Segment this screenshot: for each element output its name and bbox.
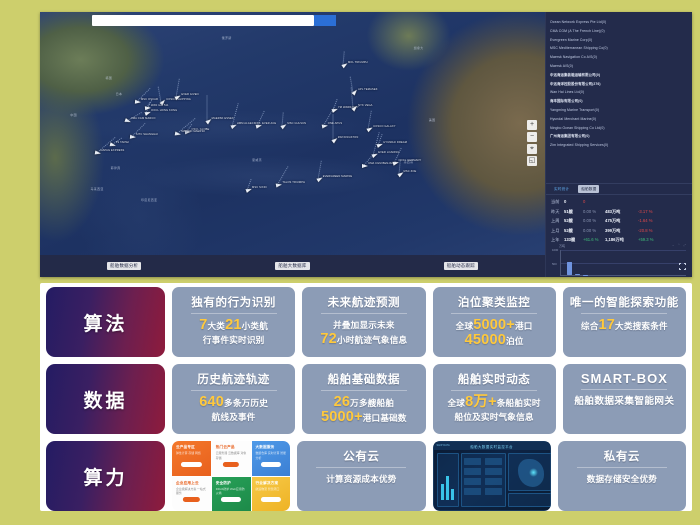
- body-text: 多条万历史: [224, 398, 268, 408]
- feature-card-body: 计算资源成本优势: [326, 473, 396, 487]
- board-row: 算力云产品专区弹性计算 存储 网络热门云产品云服务器 云数据库 对象存储大数据服…: [46, 441, 686, 511]
- map-canvas[interactable]: 中国日本韩国菲律宾印度尼西亚美国加拿大墨西哥马来西亚俄罗斯夏威夷 COSCO S…: [40, 12, 545, 277]
- divider: [577, 467, 667, 468]
- feature-card[interactable]: 独有的行为识别7大类21小类航行事件实时识别: [172, 287, 295, 357]
- chart-y-tick: 500: [552, 262, 557, 266]
- vessel-label: ONE APUS: [328, 122, 342, 125]
- map-geo-label: 夏威夷: [252, 158, 262, 162]
- vessel-label: HAPAG EXPRESS: [101, 149, 125, 152]
- stats-row-ships: 51艘: [564, 209, 583, 215]
- feature-card-title: 私有云: [604, 448, 640, 464]
- body-text: 小类航: [242, 321, 268, 331]
- vessel-label: SITC SHANGHAI: [136, 133, 158, 136]
- feature-card[interactable]: 私有云数据存储安全优势: [558, 441, 686, 511]
- feature-card-body: 全球5000+港口45000泊位: [456, 319, 533, 348]
- company-list[interactable]: Ocean Network Express Pte Ltd(0)CMA CGM …: [546, 16, 692, 184]
- dashboard-bar: [451, 489, 454, 500]
- feature-card[interactable]: 历史航迹轨迹640多条万历史航线及事件: [172, 364, 295, 434]
- highlight-number: 45000: [465, 332, 506, 348]
- map-geo-label: 印度尼西亚: [141, 198, 157, 202]
- company-list-item[interactable]: 广州海运集团有限公司(0): [550, 132, 689, 141]
- mosaic-tile[interactable]: 云产品专区弹性计算 存储 网络: [172, 441, 211, 476]
- mosaic-tile-title: 大数据服务: [256, 445, 275, 450]
- ship-tracking-app-window: 中国日本韩国菲律宾印度尼西亚美国加拿大墨西哥马来西亚俄罗斯夏威夷 COSCO S…: [40, 12, 692, 277]
- divider: [321, 390, 407, 391]
- cloud-products-mosaic[interactable]: 云产品专区弹性计算 存储 网络热门云产品云服务器 云数据库 对象存储大数据服务数…: [172, 441, 290, 511]
- dashboard-tag: SHIP DATA: [437, 444, 450, 447]
- mosaic-tile[interactable]: 安全防护DDoS防护 Web应用防火墙: [212, 477, 251, 512]
- feature-card-line: 行事件实时识别: [199, 334, 268, 348]
- chart-bar: [575, 274, 580, 275]
- feature-card-line: 72小时航迹气象信息: [320, 333, 407, 348]
- body-text: 大类搜索条件: [615, 321, 668, 331]
- feature-card-title: 船舶基础数据: [328, 371, 401, 387]
- map-footer-item[interactable]: 船舶数据分析: [107, 262, 141, 270]
- mosaic-tile[interactable]: 行业解决方案航运物流 智慧港口: [252, 477, 291, 512]
- feature-card-body: 船舶数据采集智能网关: [574, 395, 674, 409]
- company-list-item[interactable]: Zim Integrated Shipping Services(0): [550, 141, 689, 150]
- feature-card-body: 640多条万历史航线及事件: [199, 396, 268, 424]
- tab-ship-data[interactable]: 船舶数据: [578, 185, 599, 193]
- stats-header-label: 当前: [551, 199, 564, 205]
- stats-header-ships: 0: [564, 199, 583, 204]
- dashboard-cell: [464, 468, 481, 475]
- feature-card-body: 综合17大类搜索条件: [581, 319, 668, 334]
- feature-card-body: 7大类21小类航行事件实时识别: [199, 319, 268, 347]
- body-text: 万: [350, 398, 359, 408]
- vessel-label: EVER ACE: [262, 122, 276, 125]
- feature-card-line: 数据存储安全优势: [587, 473, 657, 487]
- stats-row-tonnage: 475万吨: [605, 218, 638, 224]
- map-footer-item[interactable]: 船舶大数据库: [275, 262, 309, 270]
- feature-card-title: 独有的行为识别: [191, 294, 276, 310]
- highlight-number: 7: [199, 317, 207, 333]
- body-text: 小时航迹气象信息: [337, 335, 407, 345]
- dashboard-cell: [464, 488, 481, 495]
- feature-card-line: 计算资源成本优势: [326, 473, 396, 487]
- body-text: 大类: [208, 321, 226, 331]
- feature-card-line: 全球8万+条船舶实时: [448, 396, 541, 411]
- company-list-item[interactable]: 海丰国际有限公司(0): [550, 97, 689, 106]
- vessel-label: MOL TRIUMPH: [348, 61, 368, 64]
- mosaic-tile-button[interactable]: [223, 462, 239, 467]
- chart-y-tick: 1000: [552, 248, 558, 252]
- feature-card-line: 航线及事件: [199, 411, 268, 425]
- vessel-label: WAN HAI 511: [151, 104, 169, 107]
- feature-card-title: 泊位聚类监控: [458, 294, 531, 310]
- body-text: 综合: [581, 321, 599, 331]
- feature-card-title: 未来航迹预测: [328, 294, 401, 310]
- body-text: 泊位: [506, 336, 524, 346]
- feature-card-line: 7大类21小类航: [199, 319, 268, 334]
- divider: [321, 313, 407, 314]
- stats-row-ships-pct: 0.00 %: [583, 209, 605, 214]
- feature-card-line: 5000+港口基础数: [321, 411, 407, 426]
- divider: [451, 390, 537, 391]
- feature-card-line: 45000泊位: [456, 334, 533, 349]
- feature-card[interactable]: 船舶实时动态全球8万+条船舶实时船位及实时气象信息: [433, 364, 556, 434]
- feature-card[interactable]: 未来航迹预测并叠加显示未来72小时航迹气象信息: [302, 287, 425, 357]
- highlight-number: 8万+: [465, 394, 497, 410]
- stats-row: 上周52艘0.00 %475万吨-1.64 %: [551, 218, 688, 228]
- dashboard-bar: [446, 476, 449, 500]
- body-text: 多艘船舶: [359, 398, 394, 408]
- company-list-item[interactable]: Maersk Navigation Co A/S(0): [550, 53, 689, 62]
- divider: [316, 467, 406, 468]
- dashboard-cell: [464, 458, 481, 465]
- vessel-label: OOCL GERMANY: [399, 159, 422, 162]
- statistics-table: 当前 0 0 昨天51艘0.00 %483万吨-3.17 %上周52艘0.00 …: [546, 197, 692, 247]
- company-list-item[interactable]: Ningbo Ocean Shipping Co Ltd(0): [550, 124, 689, 133]
- mosaic-tile-subtitle: 云服务器 云数据库 对象存储: [216, 451, 247, 460]
- feature-card[interactable]: 唯一的智能探索功能综合17大类搜索条件: [563, 287, 686, 357]
- map-footer-bar: 船舶数据分析 船舶大数据库 船舶动态跟踪: [40, 255, 545, 277]
- stats-header-row: 当前 0 0: [551, 199, 688, 209]
- vessel-label: MSC ZOE: [404, 170, 417, 173]
- vessel-label: ZIM KINGSTON: [338, 136, 359, 139]
- body-text: 行事件实时识别: [203, 335, 265, 345]
- mosaic-tile-button[interactable]: [181, 462, 201, 467]
- company-list-item[interactable]: Wan Hai Lines Ltd(0): [550, 88, 689, 97]
- body-text: 船位及实时气象信息: [455, 412, 534, 422]
- dashboard-cell: [464, 478, 481, 485]
- mosaic-tile-title: 热门云产品: [216, 445, 235, 450]
- tab-realtime-stats[interactable]: 实时统计: [551, 185, 572, 193]
- map-search-button[interactable]: [314, 15, 336, 26]
- stats-row-tonnage-pct: -1.64 %: [638, 218, 660, 223]
- company-list-item[interactable]: Yangming Marine Transport(0): [550, 106, 689, 115]
- mosaic-tile-title: 云产品专区: [176, 445, 195, 450]
- dashboard-panel: [508, 493, 551, 507]
- dashboard-preview[interactable]: SHIP DATA船舶大数据实时监控平台: [433, 441, 551, 511]
- feature-card-line: 640多条万历史: [199, 396, 268, 411]
- map-geo-label: 日本: [116, 92, 123, 96]
- stats-row: 上月52艘0.00 %399万吨-20.8 %: [551, 228, 688, 238]
- capability-board: 算法独有的行为识别7大类21小类航行事件实时识别未来航迹预测并叠加显示未来72小…: [40, 283, 692, 511]
- category-chip-算力[interactable]: 算力: [46, 441, 165, 511]
- zoom-in-icon[interactable]: +: [527, 120, 537, 130]
- company-list-item[interactable]: CMA CGM (A The French Line)(0): [550, 27, 689, 36]
- stats-row-tonnage: 399万吨: [605, 228, 638, 234]
- stats-row-ships-pct: 0.00 %: [583, 218, 605, 223]
- dashboard-cell: [485, 468, 502, 475]
- stats-row-label: 上月: [551, 228, 564, 234]
- vessel-track: [206, 96, 207, 122]
- zoom-out-icon[interactable]: −: [527, 132, 537, 142]
- dashboard-cell: [485, 478, 502, 485]
- feature-card-title: 唯一的智能探索功能: [570, 294, 679, 310]
- mosaic-tile-subtitle: 航运物流 智慧港口: [256, 487, 287, 492]
- locate-icon[interactable]: ⌖: [527, 144, 537, 154]
- mosaic-tile[interactable]: 大数据服务数据仓库 实时计算 智能分析: [252, 441, 291, 476]
- divider: [451, 313, 537, 314]
- body-text: 全球: [448, 398, 466, 408]
- divider: [581, 313, 667, 314]
- highlight-number: 640: [199, 394, 224, 410]
- category-chip-算法[interactable]: 算法: [46, 287, 165, 357]
- dashboard-title: 船舶大数据实时监控平台: [470, 444, 513, 449]
- mosaic-tile-title: 企业应用上云: [176, 481, 199, 486]
- fullscreen-icon[interactable]: [679, 263, 686, 270]
- dashboard-cell: [485, 458, 502, 465]
- feature-card-title: SMART-BOX: [581, 371, 668, 386]
- mosaic-tile-title: 行业解决方案: [256, 481, 279, 486]
- vessel-label: MSC GULSUN: [287, 122, 306, 125]
- feature-card-body: 全球8万+条船舶实时船位及实时气象信息: [448, 396, 541, 424]
- company-list-item[interactable]: 中远海运集装箱运输有限公司(0): [550, 71, 689, 80]
- body-text: 航线及事件: [212, 412, 256, 422]
- map-geo-label: 菲律宾: [111, 166, 121, 170]
- body-text: 全球: [456, 321, 474, 331]
- stats-row-label: 上周: [551, 218, 564, 224]
- chart-toolbar-icons[interactable]: ⌄ ⌃ ⤢: [672, 243, 687, 247]
- side-panel-tabs[interactable]: 实时统计 船舶数据: [546, 183, 692, 195]
- highlight-number: 21: [225, 317, 242, 333]
- company-list-item[interactable]: Maersk A/S(0): [550, 62, 689, 71]
- vessel-label: MSC SIXIN: [252, 186, 267, 189]
- feature-card-title: 船舶实时动态: [458, 371, 531, 387]
- vessel-label: NYK VEGA: [358, 104, 372, 107]
- tonnage-mini-chart: 万吨 ⌄ ⌃ ⤢ 1000 500: [546, 241, 692, 277]
- vessel-label: MADRID MAERSK: [181, 130, 205, 133]
- feature-card[interactable]: 泊位聚类监控全球5000+港口45000泊位: [433, 287, 556, 357]
- dashboard-bar: [441, 484, 444, 500]
- chart-y-axis-label: 万吨: [559, 244, 688, 248]
- stats-row-tonnage-pct: -3.17 %: [638, 209, 660, 214]
- body-text: 港口基础数: [363, 413, 407, 423]
- body-text: 船舶数据采集智能网关: [574, 396, 674, 407]
- company-list-item[interactable]: Evergreen Marine Corp(0): [550, 36, 689, 45]
- company-list-item[interactable]: Hyundai Merchant Marine(0): [550, 115, 689, 124]
- map-footer-item[interactable]: 船舶动态跟踪: [444, 262, 478, 270]
- stats-header-tonnage: 0: [583, 199, 605, 204]
- layers-icon[interactable]: ◱: [527, 156, 537, 166]
- board-row: 数据历史航迹轨迹640多条万历史航线及事件船舶基础数据26万多艘船舶5000+港…: [46, 364, 686, 434]
- mosaic-tile-subtitle: 弹性计算 存储 网络: [176, 451, 207, 456]
- map-geo-label: 加拿大: [414, 46, 424, 50]
- company-list-item[interactable]: Ocean Network Express Pte Ltd(0): [550, 18, 689, 27]
- chart-plot-area: 1000 500: [560, 250, 686, 276]
- mosaic-tile-button[interactable]: [261, 497, 281, 502]
- chart-bar: [583, 275, 588, 276]
- body-text: 并叠加显示未来: [333, 320, 395, 330]
- stats-row-tonnage-pct: -20.8 %: [638, 228, 660, 233]
- map-zoom-controls[interactable]: + − ⌖ ◱: [527, 120, 537, 166]
- company-list-item[interactable]: 中远海洋控股股份有限公司(276): [550, 80, 689, 89]
- stats-row-label: 昨天: [551, 209, 564, 215]
- board-row: 算法独有的行为识别7大类21小类航行事件实时识别未来航迹预测并叠加显示未来72小…: [46, 287, 686, 357]
- map-geo-label: 韩国: [106, 76, 113, 80]
- vessel-label: CMA CGM MARCO: [131, 117, 156, 120]
- mosaic-tile-button[interactable]: [221, 497, 241, 502]
- vessel-label: EVERGREEN MARINE: [323, 175, 353, 178]
- dashboard-glow: [529, 468, 538, 477]
- highlight-number: 17: [599, 317, 616, 333]
- map-geo-label: 美国: [429, 118, 436, 122]
- stats-row-tonnage: 483万吨: [605, 209, 638, 215]
- feature-card[interactable]: 公有云计算资源成本优势: [297, 441, 425, 511]
- mosaic-tile-subtitle: 企业级解决方案 一站式服务: [176, 487, 207, 496]
- feature-card-body: 数据存储安全优势: [587, 473, 657, 487]
- feature-card-title: 历史航迹轨迹: [197, 371, 270, 387]
- vessel-label: MAERSK ESSEX: [212, 117, 234, 120]
- highlight-number: 72: [320, 331, 337, 347]
- feature-card[interactable]: 船舶基础数据26万多艘船舶5000+港口基础数: [302, 364, 425, 434]
- stats-row: 昨天51艘0.00 %483万吨-3.17 %: [551, 209, 688, 219]
- vessel-label: EVER GIVEN: [181, 93, 198, 96]
- category-chip-数据[interactable]: 数据: [46, 364, 165, 434]
- company-list-item[interactable]: MSC Mediterranean Shipping Co(0): [550, 44, 689, 53]
- mosaic-tile-subtitle: DDoS防护 Web应用防火墙: [216, 487, 247, 496]
- vessel-track: [158, 87, 162, 103]
- divider: [581, 389, 667, 390]
- feature-card-line: 综合17大类搜索条件: [581, 319, 668, 334]
- chart-bar: [567, 262, 572, 275]
- divider: [191, 390, 277, 391]
- body-text: 条船舶实时: [497, 398, 541, 408]
- feature-card-line: 船舶数据采集智能网关: [574, 395, 674, 409]
- body-text: 数据存储安全优势: [587, 474, 657, 484]
- stats-row-ships: 52艘: [564, 228, 583, 234]
- map-geo-label: 俄罗斯: [222, 36, 232, 40]
- feature-card-body: 并叠加显示未来72小时航迹气象信息: [320, 319, 407, 347]
- body-text: 港口: [515, 321, 533, 331]
- body-text: 计算资源成本优势: [326, 474, 396, 484]
- mosaic-tile[interactable]: 热门云产品云服务器 云数据库 对象存储: [212, 441, 251, 476]
- feature-card-title: 公有云: [343, 448, 379, 464]
- mosaic-tile-subtitle: 数据仓库 实时计算 智能分析: [256, 451, 287, 460]
- map-geo-label: 中国: [70, 113, 77, 117]
- vessel-label: APL TEMASEK: [358, 88, 378, 91]
- map-search-input[interactable]: [92, 15, 314, 26]
- side-panel: Ocean Network Express Pte Ltd(0)CMA CGM …: [545, 12, 692, 277]
- stats-row-ships: 52艘: [564, 218, 583, 224]
- vessel-label: COSCO GALAXY: [373, 125, 395, 128]
- vessel-label: EVER LOADING: [378, 151, 399, 154]
- map-geo-label: 马来西亚: [91, 187, 104, 191]
- stats-row-ships-pct: 0.00 %: [583, 228, 605, 233]
- dashboard-cell: [485, 488, 502, 495]
- vessel-track: [332, 114, 333, 140]
- mosaic-tile-button[interactable]: [261, 462, 281, 467]
- feature-card-body: 26万多艘船舶5000+港口基础数: [321, 396, 407, 425]
- highlight-number: 5000+: [321, 409, 363, 425]
- mosaic-tile[interactable]: 企业应用上云企业级解决方案 一站式服务: [172, 477, 211, 512]
- feature-card[interactable]: SMART-BOX船舶数据采集智能网关: [563, 364, 686, 434]
- vessel-label: HYUNDAI DREAM: [383, 141, 407, 144]
- mosaic-tile-title: 安全防护: [216, 481, 231, 486]
- vessel-label: OOCL HONG KONG: [151, 109, 177, 112]
- divider: [191, 313, 277, 314]
- vessel-label: TALOS TRIUMPH: [282, 181, 305, 184]
- feature-card-line: 船位及实时气象信息: [448, 411, 541, 425]
- mosaic-tile-button[interactable]: [183, 497, 199, 502]
- vessel-track: [363, 155, 373, 167]
